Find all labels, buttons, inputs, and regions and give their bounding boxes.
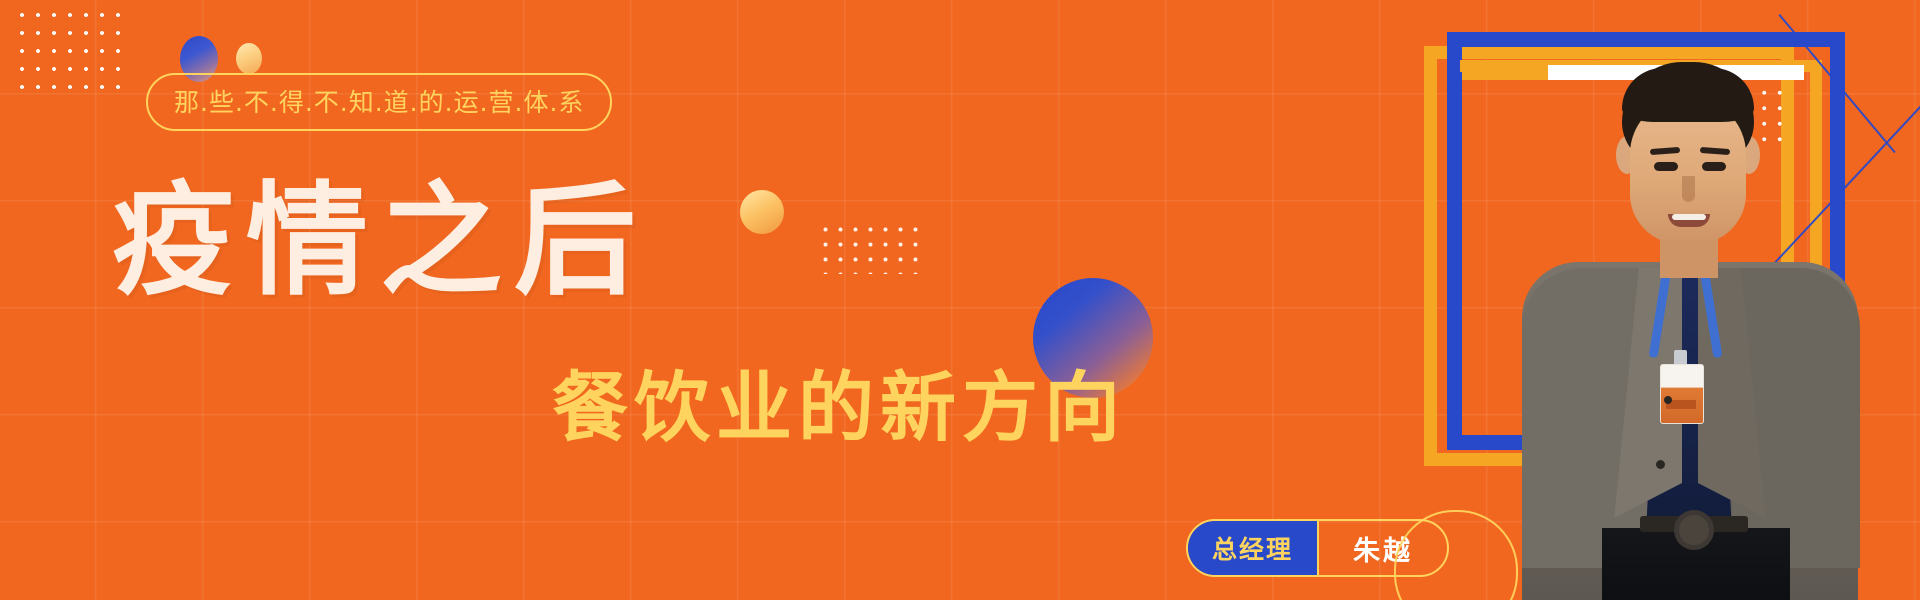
portrait-eye-right	[1702, 162, 1726, 171]
subtitle-pill: 那.些.不.得.不.知.道.的.运.营.体.系	[146, 73, 612, 131]
promo-banner: 那.些.不.得.不.知.道.的.运.营.体.系 疫情之后 餐饮业的新方向 总经理…	[0, 0, 1920, 600]
speaker-portrait	[1470, 62, 1900, 600]
portrait-nose	[1682, 176, 1695, 202]
speaker-role: 总经理	[1188, 521, 1319, 575]
portrait-teeth	[1672, 214, 1706, 220]
portrait-jacket-button-2	[1656, 460, 1665, 469]
portrait-hair-fringe	[1622, 68, 1754, 122]
portrait-id-card	[1660, 364, 1704, 424]
portrait-belt-buckle	[1674, 510, 1714, 550]
portrait-jacket-button-1	[1664, 396, 1672, 404]
page-subtitle: 餐饮业的新方向	[552, 370, 1126, 446]
dot-grid-icon-title	[818, 222, 928, 274]
page-title: 疫情之后	[112, 180, 648, 302]
portrait-eye-left	[1654, 162, 1678, 171]
dot-grid-icon-top-left	[14, 6, 132, 96]
gradient-sphere-yellow-mid	[740, 190, 784, 234]
gradient-sphere-yellow-small	[236, 43, 262, 74]
subtitle-text: 那.些.不.得.不.知.道.的.运.营.体.系	[174, 90, 584, 115]
